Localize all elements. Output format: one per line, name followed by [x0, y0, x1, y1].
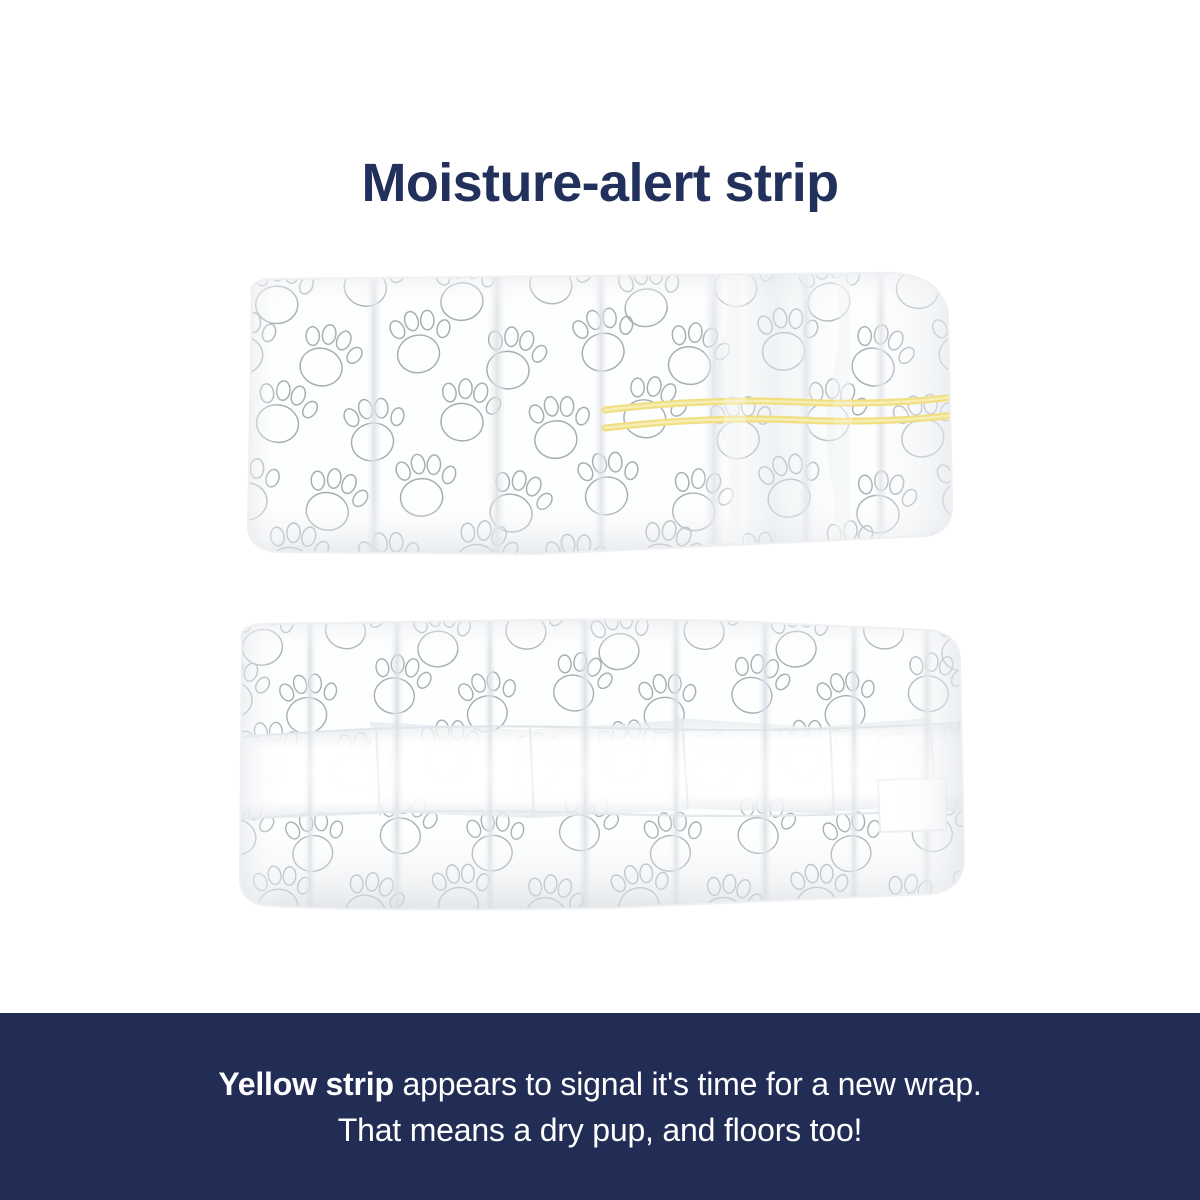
product-feature-card: Moisture-alert strip — [0, 0, 1200, 1200]
dry-wrap-body — [230, 618, 968, 914]
wet-wrap-body — [238, 270, 962, 562]
caption-highlight: Yellow strip — [218, 1066, 393, 1102]
product-image-area — [0, 0, 1200, 1013]
caption-line-2: That means a dry pup, and floors too! — [338, 1107, 862, 1153]
caption-banner: Yellow strip appears to signal it's time… — [0, 1013, 1200, 1200]
product-image-wet-wrap — [238, 270, 962, 562]
product-image-dry-wrap — [230, 618, 968, 914]
wet-wrap-illustration — [238, 270, 962, 562]
dry-wrap-illustration — [230, 618, 968, 914]
caption-line-1-rest: appears to signal it's time for a new wr… — [394, 1066, 982, 1102]
caption-line-1: Yellow strip appears to signal it's time… — [218, 1061, 981, 1107]
